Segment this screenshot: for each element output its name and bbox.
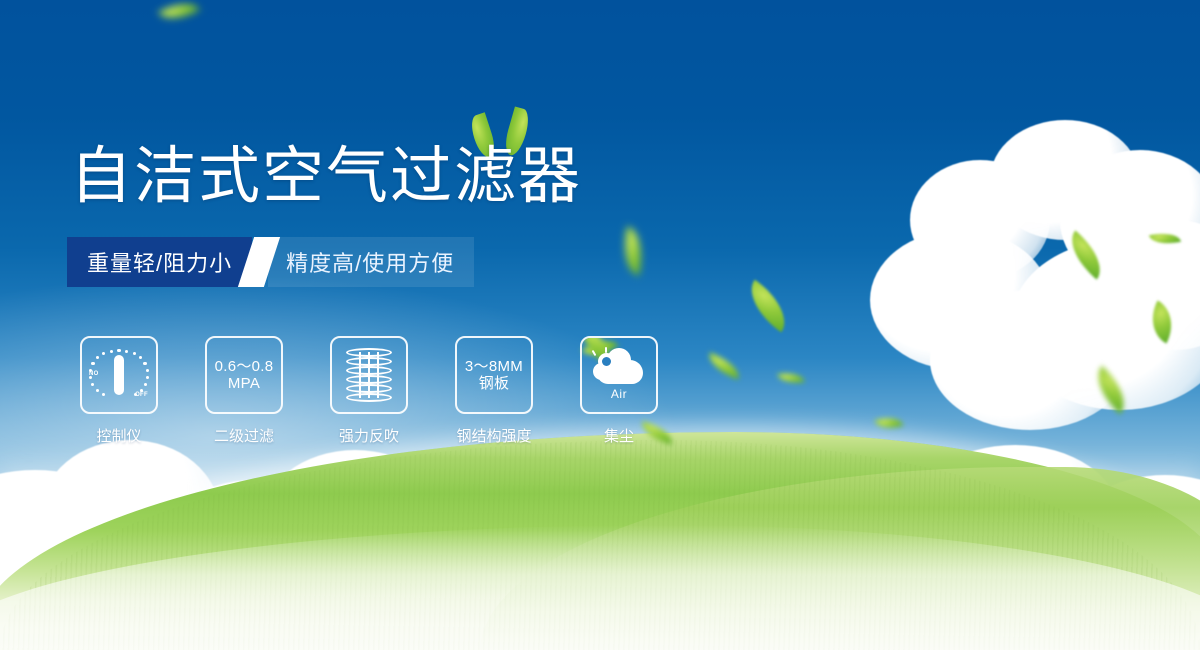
air-cloud-icon [591, 350, 647, 386]
feature-icon-box: 0.6～0.8 MPA [205, 336, 283, 414]
gauge-off-label: OFF [135, 392, 148, 398]
feature-item-secondary-filter[interactable]: 0.6～0.8 MPA 二级过滤 [205, 336, 283, 446]
feature-icon-box [330, 336, 408, 414]
steel-plate-value-icon: 3～8MM 钢板 [465, 358, 523, 393]
feature-item-controller[interactable]: NO OFF 控制仪 [80, 336, 158, 446]
feature-label: 二级过滤 [214, 425, 274, 446]
page-title: 自洁式空气过滤器 [70, 146, 582, 208]
feature-list: NO OFF 控制仪 0.6～0.8 MPA 二级过滤 [80, 336, 658, 446]
feature-label: 钢结构强度 [456, 425, 531, 446]
subtitle-left: 重量轻/阻力小 [67, 237, 252, 287]
pressure-value-icon: 0.6～0.8 MPA [215, 358, 274, 393]
feature-item-steel-strength[interactable]: 3～8MM 钢板 钢结构强度 [455, 336, 533, 446]
gauge-dial-icon: NO OFF [90, 346, 148, 404]
subtitle-right: 精度高/使用方便 [268, 237, 474, 287]
feature-icon-box: NO OFF [80, 336, 158, 414]
subtitle-bar: 重量轻/阻力小 精度高/使用方便 [67, 237, 474, 287]
feature-label: 控制仪 [96, 425, 141, 446]
air-label: Air [611, 387, 627, 401]
feature-icon-box: 3～8MM 钢板 [455, 336, 533, 414]
banner-content: 自洁式空气过滤器 重量轻/阻力小 精度高/使用方便 [0, 0, 1200, 650]
product-hero-banner: 自洁式空气过滤器 重量轻/阻力小 精度高/使用方便 [0, 0, 1200, 650]
filter-cartridge-icon [346, 348, 392, 402]
feature-label: 集尘 [604, 425, 634, 446]
feature-item-dust-collection[interactable]: Air 集尘 [580, 336, 658, 446]
feature-label: 强力反吹 [339, 425, 399, 446]
gauge-no-label: NO [89, 371, 99, 377]
feature-item-backblow[interactable]: 强力反吹 [330, 336, 408, 446]
feature-icon-box: Air [580, 336, 658, 414]
